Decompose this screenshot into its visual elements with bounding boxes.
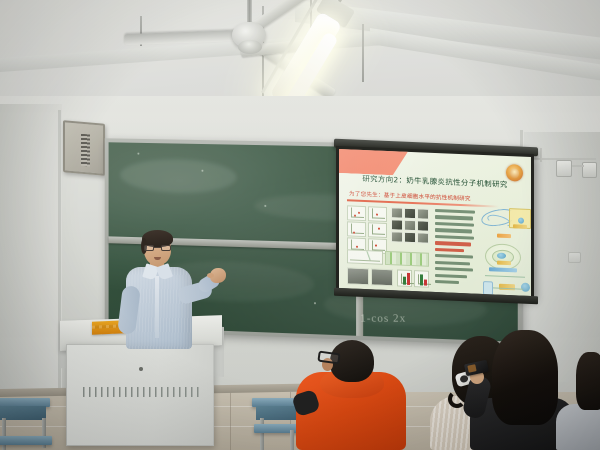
lecture-hall-photo: 1-cos 2x 研究方向2：奶牛乳腺炎抗性分子机制研究 为了您先生：基于上皮细… [0,0,600,450]
microscopy-image [391,219,403,231]
left-wall [0,104,62,404]
protein-node [497,253,506,259]
fan-hub-cap [238,40,262,54]
microscopy-image [404,208,416,220]
presenter [118,232,228,344]
desk-leg [290,430,294,450]
electrical-box[interactable] [582,162,597,178]
presenter-shirt-placket [155,276,159,338]
microscopy-image [417,208,429,220]
wall-speaker [63,120,105,176]
mini-plot [368,206,387,222]
gel-blot-image [347,267,369,285]
microscopy-image [404,220,416,232]
heatmap-strip [385,251,429,267]
audience-top [556,404,600,450]
fan-blade [124,30,244,45]
body-text-column [435,209,475,288]
fan-downrod [247,0,252,22]
lectern-cabinet[interactable] [66,344,214,446]
line-chart-thumb [347,249,383,265]
microscopy-image [391,207,403,219]
projector-screen[interactable]: 研究方向2：奶牛乳腺炎抗性分子机制研究 为了您先生：基于上皮细胞水平的抗性机制研… [336,146,534,299]
pathway-connector [485,275,525,277]
bar-chart-thumb [414,270,429,288]
speaker-grille [81,134,90,167]
mini-plot [347,221,366,237]
mini-plot [347,205,366,221]
figure-grid-panel [347,205,431,289]
gene-bar [497,261,511,266]
gel-blot-image [371,268,393,286]
pathway-inset-box [509,208,531,229]
desk-left-rear-panel [0,406,46,420]
microscopy-image [417,232,429,244]
glasses-icon [144,245,171,251]
membrane-receptor [497,234,511,239]
presenter-right-hand [210,268,226,283]
electrical-box[interactable] [556,160,572,177]
slide-title: 研究方向2：奶牛乳腺炎抗性分子机制研究 [339,172,531,191]
audience-hair [492,330,558,425]
electrical-conduit [540,148,542,162]
microscopy-image [417,220,429,232]
microscopy-image [391,231,403,243]
lectern-lock[interactable] [139,367,143,371]
chalk-writing: 1-cos 2x [360,313,407,325]
promoter-bar [489,267,517,272]
electrical-conduit [572,165,584,167]
desk-leg [260,418,264,450]
presentation-slide: 研究方向2：奶牛乳腺炎抗性分子机制研究 为了您先生：基于上皮细胞水平的抗性机制研… [339,149,531,296]
desk-left-front[interactable] [0,436,52,445]
microscopy-image [404,232,416,244]
lectern-ventilation-slots [83,387,199,397]
mini-plot [368,222,387,238]
bar-chart-thumb [397,269,412,287]
desk-leg [2,418,6,450]
cell-signaling-pathway-diagram [479,207,531,296]
pathway-endpoint-right [521,283,530,292]
wall-plate[interactable] [568,252,581,263]
audience-hair [576,352,600,410]
